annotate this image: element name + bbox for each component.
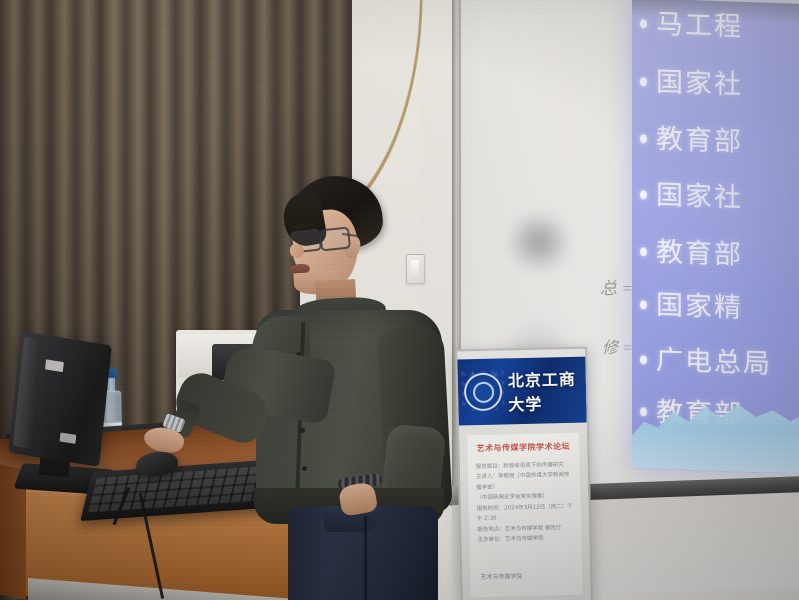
poster-header-banner: 北京工商大学	[457, 357, 586, 426]
monitor-sticker	[45, 359, 64, 372]
slide-bullet-label: 国家精	[656, 292, 743, 322]
poster-board: 北京工商大学 艺术与传媒学院学术论坛 报告题目：新媒体语境下的传播研究 主讲人：…	[455, 347, 593, 600]
jacket-button-3	[300, 428, 305, 433]
jeans-seam	[364, 516, 367, 600]
slide-bullet-4: 国家社	[640, 181, 743, 212]
projection-screen: 马工程 国家社 教育部 国家社 教育部 国家精	[632, 0, 799, 474]
slide-bullet-5: 教育部	[640, 238, 743, 269]
slide-bullet-label: 马工程	[656, 11, 743, 41]
poster-line-2: 主讲人：李教授（中国传媒大学新闻传播学部）	[476, 470, 572, 493]
poster-line-6: 主办单位：艺术与传媒学院	[477, 533, 573, 546]
monitor-sticker-2	[60, 432, 77, 443]
poster-body: 艺术与传媒学院学术论坛 报告题目：新媒体语境下的传播研究 主讲人：李教授（中国传…	[467, 433, 583, 597]
bullet-dot-icon	[640, 407, 647, 416]
bullet-dot-icon	[640, 247, 647, 256]
poster-title: 艺术与传媒学院学术论坛	[475, 441, 571, 454]
slide-bullet-3: 教育部	[640, 125, 743, 156]
computer-monitor-rear	[8, 331, 112, 467]
bullet-dot-icon	[640, 300, 647, 309]
slide-bullet-label: 国家社	[656, 182, 743, 212]
slide-bullet-7: 广电总局	[640, 346, 772, 378]
lecture-photo-scene: 20 24 总 =40.5 秒 修 =4 14 4 24 马工程 国家社 教育部…	[0, 0, 799, 600]
poster-line-4: 报告时间：2024年3月12日（周二）下午 2:30	[477, 502, 573, 525]
slide-bullet-6: 国家精	[640, 291, 743, 322]
slide-bullet-label: 国家社	[656, 69, 743, 99]
jacket-button-4	[302, 466, 307, 471]
bullet-dot-icon	[640, 355, 647, 364]
slide-bullet-label: 教育部	[656, 126, 743, 156]
slide-content: 马工程 国家社 教育部 国家社 教育部 国家精	[632, 0, 799, 474]
slide-bullet-1: 马工程	[640, 10, 743, 41]
bullet-dot-icon	[640, 134, 647, 143]
university-name: 北京工商大学	[508, 366, 587, 416]
slide-bullet-label: 教育部	[656, 239, 743, 269]
slide-bullet-2: 国家社	[640, 68, 743, 99]
bullet-dot-icon	[640, 77, 647, 86]
slide-bullet-label: 广电总局	[656, 347, 772, 378]
bullet-dot-icon	[640, 19, 647, 28]
poster-signature: 艺术与传媒学院	[480, 571, 522, 581]
presenter	[232, 176, 472, 600]
bullet-dot-icon	[640, 190, 647, 199]
glasses-right-lens	[319, 226, 351, 251]
